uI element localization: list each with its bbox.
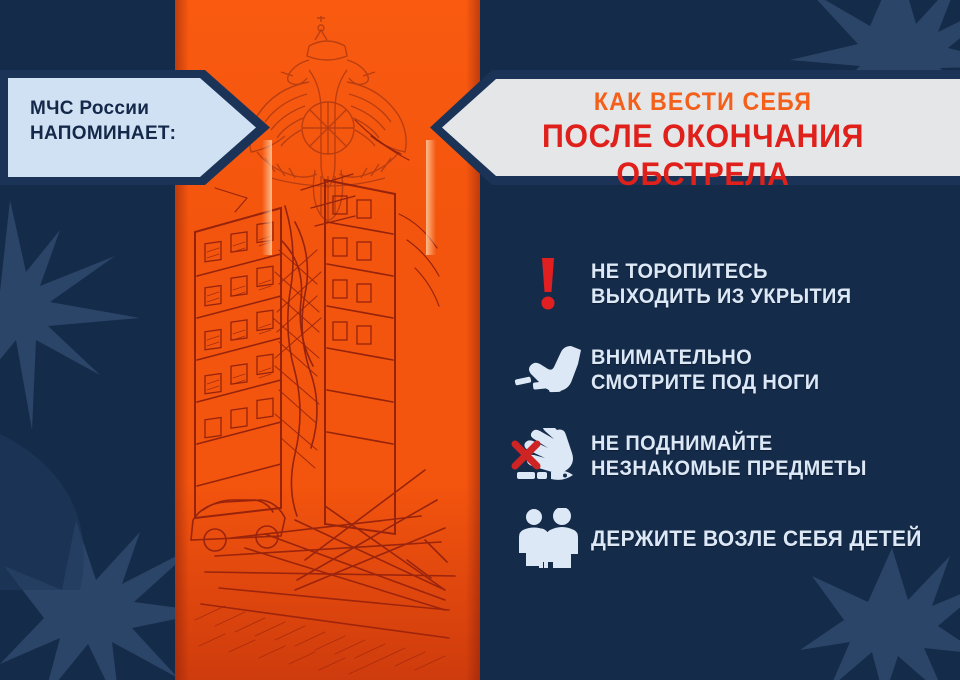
burst-star-icon bbox=[0, 200, 140, 430]
exclamation-mark-glyph bbox=[535, 258, 561, 310]
advice-item-keep-children-close: ДЕРЖИТЕ ВОЗЛЕ СЕБЯ ДЕТЕЙ bbox=[505, 503, 955, 573]
poster: МЧС России НАПОМИНАЕТ: КАК ВЕСТИ СЕБЯ ПО… bbox=[0, 0, 960, 680]
page-title: КАК ВЕСТИ СЕБЯ ПОСЛЕ ОКОНЧАНИЯ ОБСТРЕЛА bbox=[455, 88, 951, 193]
hand-no-touch-glyph bbox=[511, 428, 585, 484]
advice-item-do-not-hurry: НЕ ТОРОПИТЕСЬ ВЫХОДИТЬ ИЗ УКРЫТИЯ bbox=[505, 245, 955, 323]
advice-line1: НЕ ПОДНИМАЙТЕ bbox=[591, 431, 867, 456]
left-banner-text: МЧС России НАПОМИНАЕТ: bbox=[30, 96, 210, 146]
advice-line1: ВНИМАТЕЛЬНО bbox=[591, 345, 820, 370]
family-icon bbox=[505, 508, 591, 568]
title-line2: ПОСЛЕ ОКОНЧАНИЯ ОБСТРЕЛА bbox=[467, 117, 938, 193]
advice-item-text: НЕ ПОДНИМАЙТЕ НЕЗНАКОМЫЕ ПРЕДМЕТЫ bbox=[591, 431, 881, 481]
title-line1: КАК ВЕСТИ СЕБЯ bbox=[472, 88, 933, 117]
advice-item-text: НЕ ТОРОПИТЕСЬ ВЫХОДИТЬ ИЗ УКРЫТИЯ bbox=[591, 259, 865, 309]
left-banner-line1: МЧС России bbox=[30, 96, 210, 121]
advice-line2: ВЫХОДИТЬ ИЗ УКРЫТИЯ bbox=[591, 284, 851, 309]
chevron-glow-left bbox=[262, 140, 272, 255]
advice-line1: НЕ ТОРОПИТЕСЬ bbox=[591, 259, 851, 284]
advice-item-text: ВНИМАТЕЛЬНО СМОТРИТЕ ПОД НОГИ bbox=[591, 345, 832, 395]
advice-line1: ДЕРЖИТЕ ВОЗЛЕ СЕБЯ ДЕТЕЙ bbox=[591, 526, 922, 551]
advice-item-do-not-pick-up: НЕ ПОДНИМАЙТЕ НЕЗНАКОМЫЕ ПРЕДМЕТЫ bbox=[505, 417, 955, 495]
panel-gradient-bottom bbox=[175, 480, 480, 680]
burst-swirl-icon bbox=[0, 420, 110, 590]
family-glyph bbox=[517, 508, 579, 568]
advice-line2: НЕЗНАКОМЫЕ ПРЕДМЕТЫ bbox=[591, 456, 867, 481]
boot-glyph bbox=[513, 344, 583, 396]
left-banner-line2: НАПОМИНАЕТ: bbox=[30, 121, 210, 146]
advice-list: НЕ ТОРОПИТЕСЬ ВЫХОДИТЬ ИЗ УКРЫТИЯ ВНИМАТ… bbox=[505, 245, 955, 581]
advice-line2: СМОТРИТЕ ПОД НОГИ bbox=[591, 370, 820, 395]
advice-item-watch-your-step: ВНИМАТЕЛЬНО СМОТРИТЕ ПОД НОГИ bbox=[505, 331, 955, 409]
header-band: МЧС России НАПОМИНАЕТ: КАК ВЕСТИ СЕБЯ ПО… bbox=[0, 70, 960, 185]
chevron-glow-right bbox=[426, 140, 436, 255]
exclamation-mark-icon bbox=[505, 258, 591, 310]
hand-no-touch-icon bbox=[505, 428, 591, 484]
boot-stepping-icon bbox=[505, 344, 591, 396]
advice-item-text: ДЕРЖИТЕ ВОЗЛЕ СЕБЯ ДЕТЕЙ bbox=[591, 526, 939, 551]
